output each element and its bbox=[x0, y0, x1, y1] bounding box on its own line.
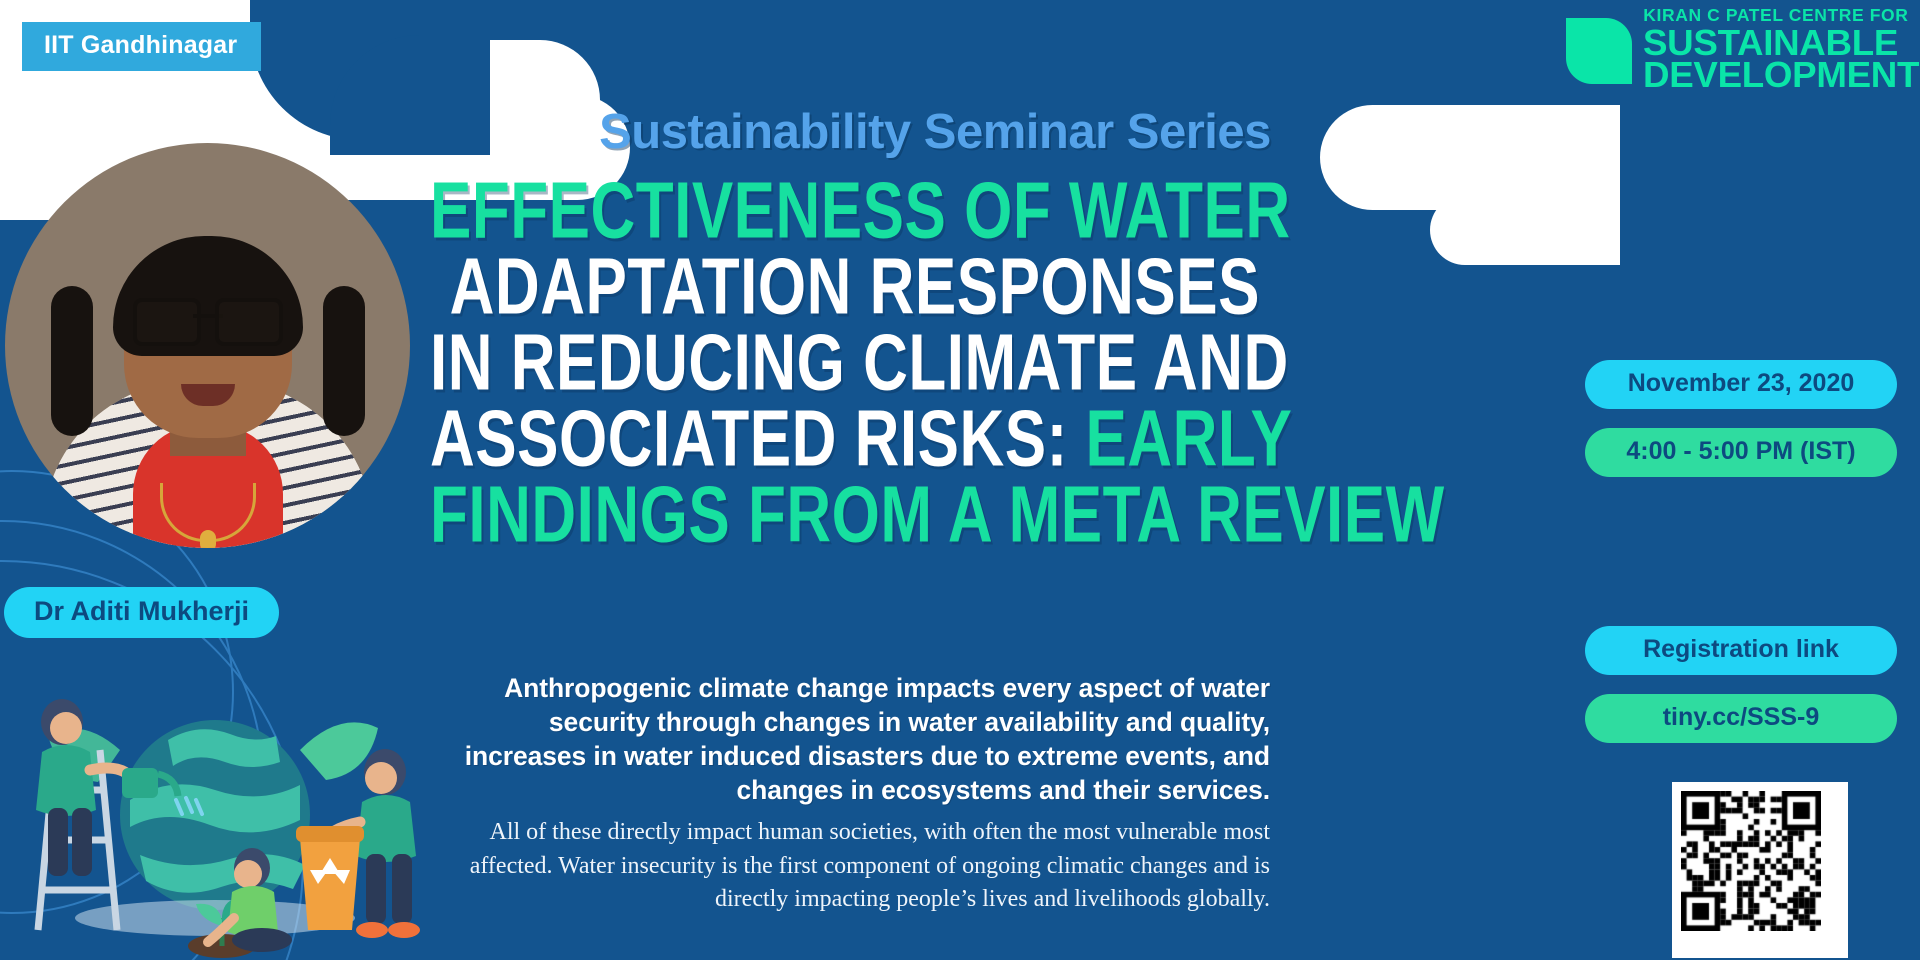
hair-left bbox=[51, 286, 93, 436]
seminar-poster: IIT Gandhinagar KIRAN C PATEL CENTRE FOR… bbox=[0, 0, 1920, 960]
event-time-badge: 4:00 - 5:00 PM (IST) bbox=[1585, 428, 1897, 477]
lens-left bbox=[133, 298, 201, 346]
sustainability-illustration bbox=[0, 600, 470, 960]
qr-canvas bbox=[1681, 791, 1821, 931]
lens-right bbox=[215, 298, 283, 346]
title-line-5: FINDINGS FROM A META REVIEW bbox=[430, 479, 1260, 552]
leaf-icon bbox=[1566, 18, 1632, 84]
logo-line-3: DEVELOPMENT bbox=[1643, 59, 1919, 91]
title-line-4: ASSOCIATED RISKS: EARLY bbox=[430, 403, 1260, 476]
event-date-badge: November 23, 2020 bbox=[1585, 360, 1897, 409]
logo-text-block: KIRAN C PATEL CENTRE FOR SUSTAINABLE DEV… bbox=[1643, 8, 1914, 92]
registration-link-badge[interactable]: tiny.cc/SSS-9 bbox=[1585, 694, 1897, 743]
talk-title: EFFECTIVENESS OF WATER ADAPTATION RESPON… bbox=[430, 175, 1260, 555]
title-line-3: IN REDUCING CLIMATE AND bbox=[430, 327, 1260, 400]
abstract-bold: Anthropogenic climate change impacts eve… bbox=[440, 672, 1270, 808]
title-line-1: EFFECTIVENESS OF WATER bbox=[430, 175, 1260, 248]
photo-person bbox=[43, 256, 373, 548]
title-line-2: ADAPTATION RESPONSES bbox=[430, 251, 1260, 324]
institution-badge: IIT Gandhinagar bbox=[22, 22, 261, 71]
qr-code[interactable] bbox=[1672, 782, 1848, 958]
abstract-serif: All of these directly impact human socie… bbox=[440, 816, 1270, 917]
speaker-name-badge: Dr Aditi Mukherji bbox=[4, 587, 279, 638]
glasses-icon bbox=[133, 298, 283, 338]
decor-blob-top-right-2 bbox=[1430, 195, 1620, 265]
kcpcsd-logo: KIRAN C PATEL CENTRE FOR SUSTAINABLE DEV… bbox=[1566, 8, 1914, 92]
pendant bbox=[200, 530, 216, 548]
speaker-photo bbox=[5, 143, 410, 548]
series-title: Sustainability Seminar Series bbox=[490, 104, 1380, 160]
hair-right bbox=[323, 286, 365, 436]
registration-label-badge: Registration link bbox=[1585, 626, 1897, 675]
